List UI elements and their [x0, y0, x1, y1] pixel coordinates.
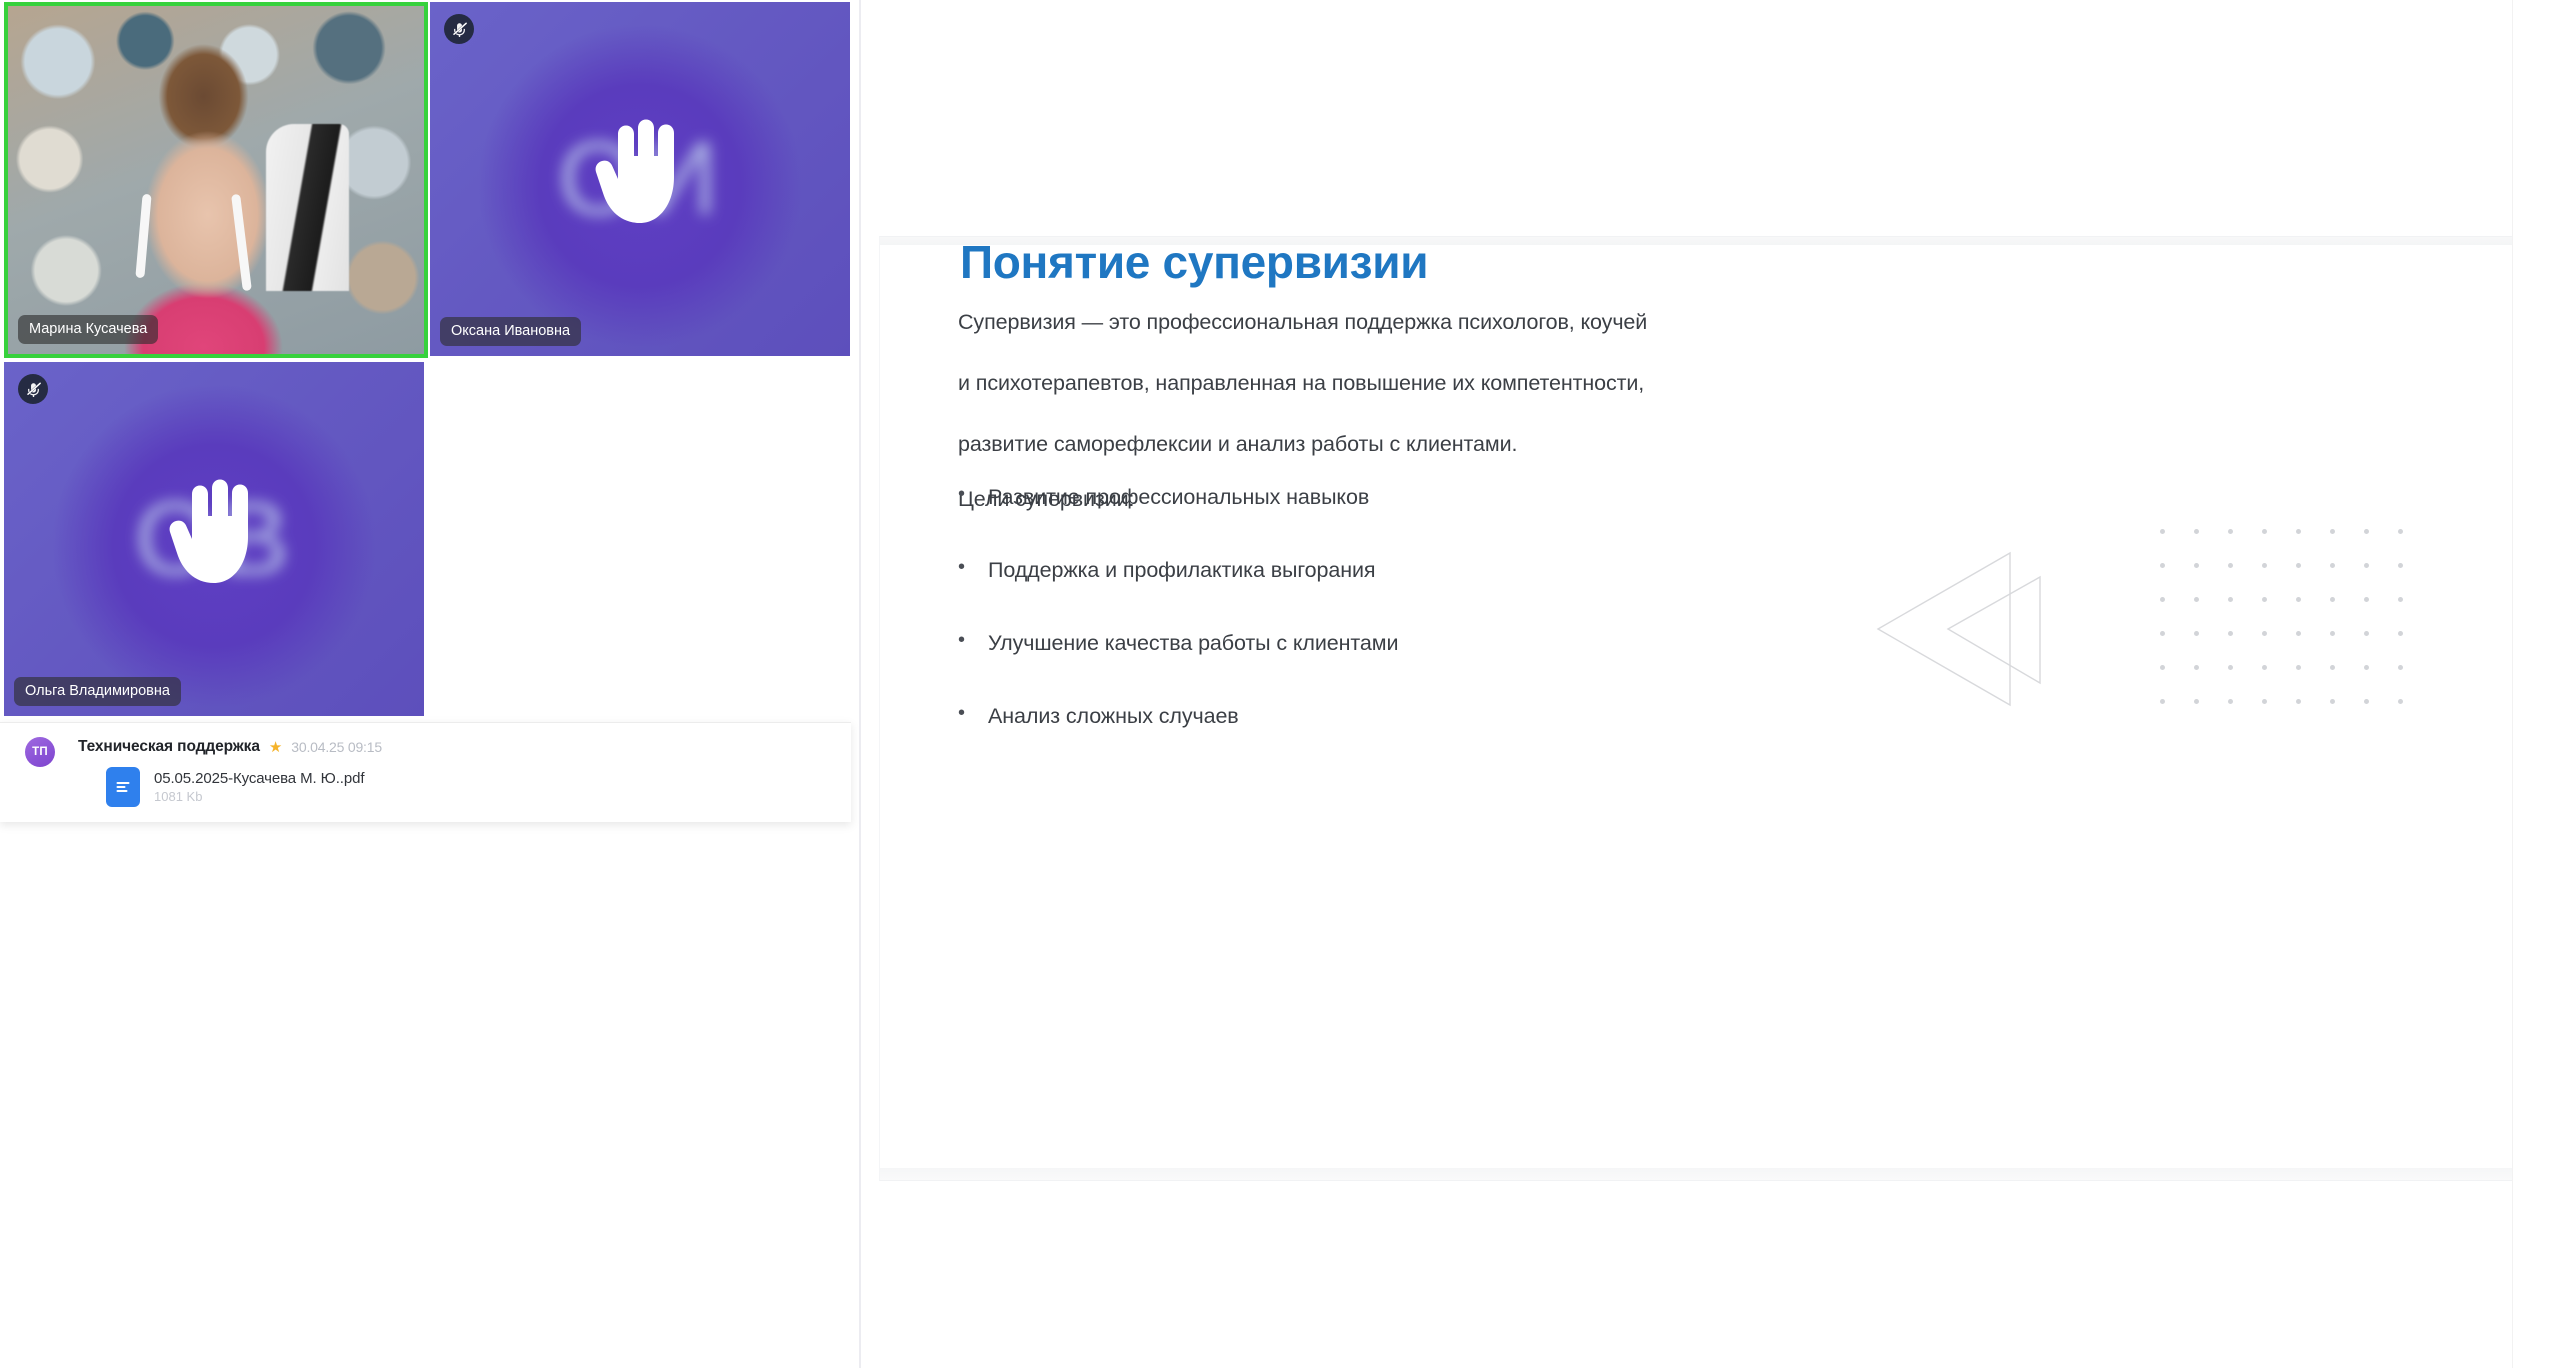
- grid-dot: [2398, 597, 2403, 602]
- grid-dot: [2364, 563, 2369, 568]
- grid-dot: [2160, 597, 2165, 602]
- grid-dot: [2296, 665, 2301, 670]
- pinned-message-card[interactable]: ТП Техническая поддержка ★ 30.04.25 09:1…: [0, 722, 851, 822]
- grid-dot: [2398, 699, 2403, 704]
- grid-dot: [2160, 665, 2165, 670]
- slide-paragraph-line: и психотерапевтов, направленная на повыш…: [958, 353, 2108, 414]
- grid-dot: [2194, 597, 2199, 602]
- grid-dot: [2330, 597, 2335, 602]
- grid-dot: [2296, 563, 2301, 568]
- grid-dot: [2296, 597, 2301, 602]
- grid-dot: [2330, 699, 2335, 704]
- dot-grid-decor: [2160, 529, 2432, 733]
- attachment-meta: 05.05.2025-Кусачева М. Ю..pdf 1081 Kb: [154, 770, 364, 804]
- grid-dot: [2262, 597, 2267, 602]
- video-tile-oksana-ivanovna[interactable]: ОИ Оксана Ивановна: [430, 2, 850, 356]
- grid-dot: [2330, 529, 2335, 534]
- participant-name-label: Ольга Владимировна: [14, 677, 181, 707]
- avatar-placeholder: ОИ: [430, 2, 850, 356]
- grid-dot: [2364, 665, 2369, 670]
- window-right-edge: [2512, 0, 2536, 1368]
- grid-dot: [2194, 631, 2199, 636]
- slide-body: Супервизия — это профессиональная поддер…: [958, 292, 2108, 512]
- attachment-filename[interactable]: 05.05.2025-Кусачева М. Ю..pdf: [154, 770, 364, 787]
- grid-dot: [2398, 529, 2403, 534]
- earbud-left: [135, 194, 151, 278]
- grid-dot: [2398, 665, 2403, 670]
- slide-paragraph-line: Супервизия — это профессиональная поддер…: [958, 292, 2108, 353]
- grid-dot: [2194, 529, 2199, 534]
- grid-dot: [2160, 699, 2165, 704]
- slide-edge-bottom: [880, 1168, 2523, 1181]
- grid-dot: [2296, 631, 2301, 636]
- grid-dot: [2228, 529, 2233, 534]
- webcam-video-feed: [8, 6, 424, 354]
- slide-paragraph-line: развитие саморефлексии и анализ работы с…: [958, 414, 2108, 475]
- video-tile-olga-vladimirovna[interactable]: ОВ Ольга Владимировна: [4, 362, 424, 716]
- slide-title: Понятие супервизии: [960, 236, 1428, 289]
- list-item: Развитие профессиональных навыков: [958, 485, 2058, 510]
- star-icon: ★: [269, 740, 282, 755]
- grid-dot: [2330, 563, 2335, 568]
- pinned-message[interactable]: ТП Техническая поддержка ★ 30.04.25 09:1…: [0, 736, 851, 807]
- grid-dot: [2262, 665, 2267, 670]
- grid-dot: [2228, 699, 2233, 704]
- message-header: Техническая поддержка ★ 30.04.25 09:15: [78, 736, 851, 758]
- grid-dot: [2330, 631, 2335, 636]
- microphone-muted-icon: [444, 14, 474, 44]
- grid-dot: [2262, 563, 2267, 568]
- message-timestamp: 30.04.25 09:15: [291, 739, 382, 755]
- grid-dot: [2262, 529, 2267, 534]
- grid-dot: [2262, 631, 2267, 636]
- video-tile-marina-kusacheva[interactable]: Марина Кусачева: [4, 2, 428, 358]
- grid-dot: [2262, 699, 2267, 704]
- grid-dot: [2364, 597, 2369, 602]
- grid-dot: [2228, 563, 2233, 568]
- grid-dot: [2398, 631, 2403, 636]
- grid-dot: [2160, 529, 2165, 534]
- video-grid: Марина Кусачева ОИ: [0, 0, 849, 718]
- microphone-muted-icon: [18, 374, 48, 404]
- screen-share-pane[interactable]: Понятие супервизии Супервизия — это проф…: [863, 0, 2536, 1368]
- grid-dot: [2194, 563, 2199, 568]
- grid-dot: [2194, 699, 2199, 704]
- raised-hand-icon: [592, 117, 688, 227]
- participant-name-label: Оксана Ивановна: [440, 317, 581, 347]
- slide-top-margin: [879, 30, 2524, 242]
- attachment-card[interactable]: 05.05.2025-Кусачева М. Ю..pdf 1081 Kb: [106, 767, 851, 807]
- grid-dot: [2364, 529, 2369, 534]
- grid-dot: [2330, 665, 2335, 670]
- avatar-placeholder: ОВ: [4, 362, 424, 716]
- grid-dot: [2228, 597, 2233, 602]
- avatar: ТП: [25, 737, 55, 767]
- raised-hand-icon: [166, 477, 262, 587]
- grid-dot: [2194, 665, 2199, 670]
- grid-dot: [2296, 529, 2301, 534]
- message-author: Техническая поддержка: [78, 738, 260, 756]
- grid-dot: [2296, 699, 2301, 704]
- attachment-filesize: 1081 Kb: [154, 789, 364, 804]
- grid-dot: [2364, 699, 2369, 704]
- participant-name-label: Марина Кусачева: [18, 315, 158, 345]
- presentation-slide[interactable]: Понятие супервизии Супервизия — это проф…: [879, 236, 2524, 1181]
- grid-dot: [2228, 631, 2233, 636]
- double-triangle-outline-icon: [1870, 533, 2090, 728]
- document-icon: [106, 767, 140, 807]
- grid-dot: [2398, 563, 2403, 568]
- grid-dot: [2160, 563, 2165, 568]
- grid-dot: [2228, 665, 2233, 670]
- grid-dot: [2160, 631, 2165, 636]
- chair-decor: [266, 124, 349, 291]
- meeting-app-window: Марина Кусачева ОИ: [0, 0, 2560, 1368]
- grid-dot: [2364, 631, 2369, 636]
- left-panel: Марина Кусачева ОИ: [0, 0, 861, 1368]
- earbud-right: [231, 194, 252, 292]
